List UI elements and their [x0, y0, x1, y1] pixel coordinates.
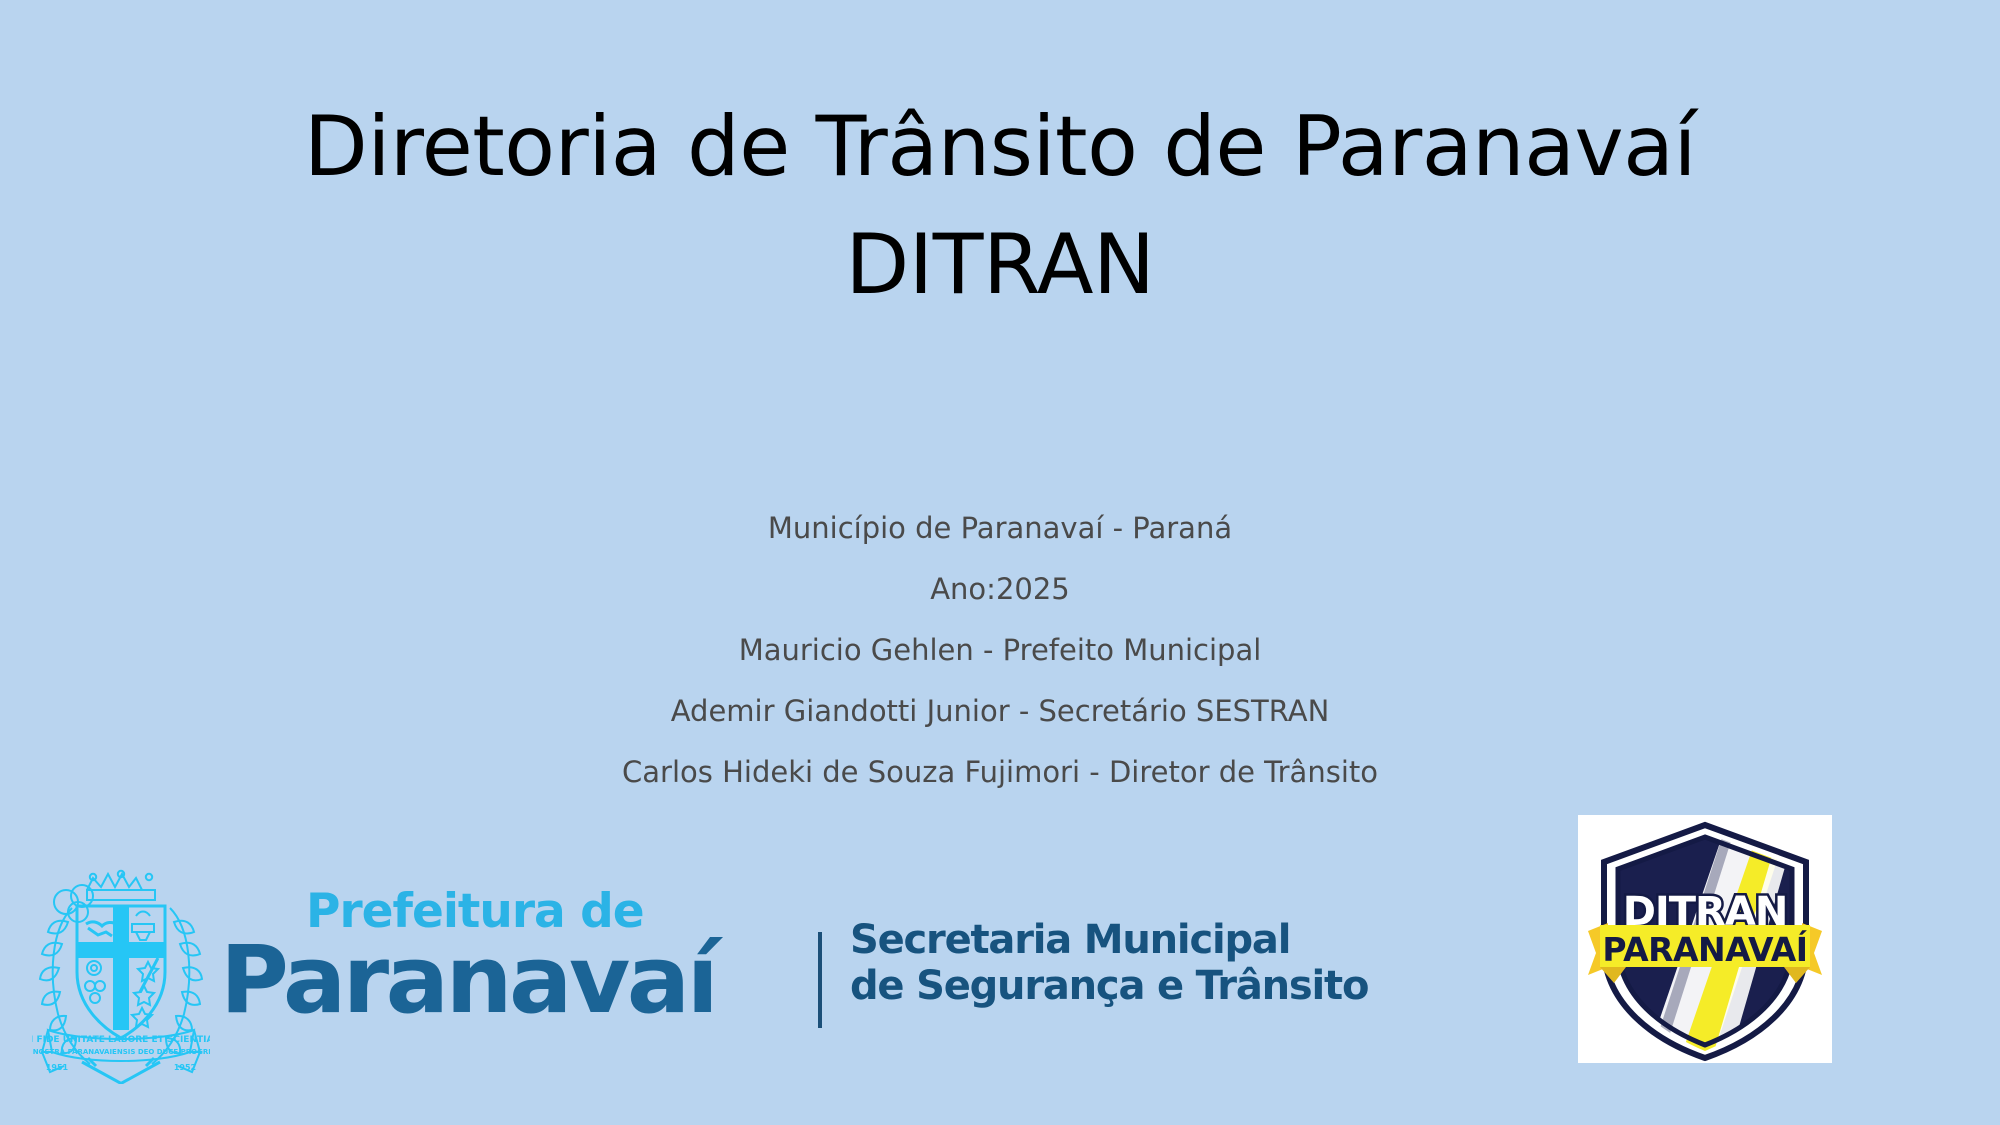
subtitle-line-mayor: Mauricio Gehlen - Prefeito Municipal	[360, 620, 1640, 681]
title-line-2: DITRAN	[0, 206, 2000, 324]
sestran-line-2: de Segurança e Trânsito	[850, 964, 1320, 1010]
subtitle-line-year: Ano:2025	[360, 559, 1640, 620]
coat-of-arms-icon: IN FIDE UNITATE LABORE ET SCIENTIAE CIVI…	[32, 866, 210, 1084]
svg-text:1951: 1951	[46, 1063, 69, 1072]
subtitle-line-secretary: Ademir Giandotti Junior - Secretário SES…	[360, 681, 1640, 742]
slide-title: Diretoria de Trânsito de Paranavaí DITRA…	[0, 88, 2000, 324]
ditran-badge-logo: DITRAN PARANAVAÍ	[1578, 815, 1832, 1063]
prefeitura-wordmark: Prefeitura de Paranavaí	[220, 878, 790, 1068]
svg-text:CIVITAS NOSTRA PARANAVAIENSIS: CIVITAS NOSTRA PARANAVAIENSIS DEO DUCE P…	[32, 1048, 210, 1056]
svg-text:IN FIDE UNITATE LABORE ET SCIE: IN FIDE UNITATE LABORE ET SCIENTIAE	[32, 1035, 210, 1045]
logo-divider	[818, 932, 822, 1028]
subtitle-line-municipality: Município de Paranavaí - Paraná	[360, 498, 1640, 559]
title-line-1: Diretoria de Trânsito de Paranavaí	[0, 88, 2000, 206]
subtitle-line-director: Carlos Hideki de Souza Fujimori - Direto…	[360, 742, 1640, 803]
sestran-line-1: Secretaria Municipal	[850, 918, 1320, 964]
sestran-wordmark: Secretaria Municipal de Segurança e Trân…	[850, 918, 1320, 1009]
prefeitura-wordmark-main: Paranavaí	[220, 926, 715, 1035]
svg-text:1952: 1952	[174, 1063, 196, 1072]
ditran-banner-text: PARANAVAÍ	[1602, 929, 1807, 969]
prefeitura-logo-lockup: IN FIDE UNITATE LABORE ET SCIENTIAE CIVI…	[24, 860, 1354, 1090]
slide-subtitle: Município de Paranavaí - Paraná Ano:2025…	[360, 498, 1640, 802]
presentation-slide: Diretoria de Trânsito de Paranavaí DITRA…	[0, 0, 2000, 1125]
